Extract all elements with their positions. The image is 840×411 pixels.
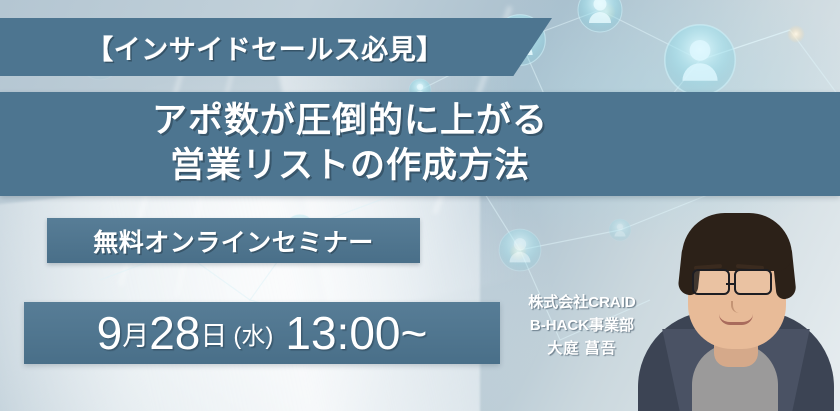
title-line-1: アポ数が圧倒的に上がる: [152, 99, 548, 144]
portrait-hair: [682, 213, 792, 271]
seminar-banner: 【インサイドセールス必見】 アポ数が圧倒的に上がる 営業リストの作成方法 無料オ…: [0, 0, 840, 411]
date-month-unit: 月: [122, 314, 149, 353]
glasses-bridge: [726, 283, 736, 286]
date-day-unit: 日: [200, 314, 227, 353]
date-start-time: 13:00~: [275, 306, 427, 360]
title-line-2: 営業リストの作成方法: [170, 144, 530, 189]
date-day-number: 28: [149, 306, 200, 360]
eyebrow-text: 【インサイドセールス必見】: [0, 18, 530, 76]
date-day-of-week: (水): [227, 316, 275, 351]
date-time-text: 9 月 28 日 (水) 13:00~: [24, 302, 500, 364]
glasses-icon: [734, 269, 772, 295]
presenter-info: 株式会社CRAID B-HACK事業部 大庭 菖吾: [506, 292, 658, 360]
presenter-division: B-HACK事業部: [530, 315, 634, 338]
presenter-portrait: [630, 185, 840, 411]
glasses-icon: [692, 269, 730, 295]
presenter-name: 大庭 菖吾: [547, 338, 616, 361]
page-title: アポ数が圧倒的に上がる 営業リストの作成方法: [0, 92, 700, 196]
presenter-company: 株式会社CRAID: [528, 292, 636, 315]
date-month-number: 9: [97, 306, 123, 360]
subtitle-text: 無料オンラインセミナー: [47, 218, 420, 263]
